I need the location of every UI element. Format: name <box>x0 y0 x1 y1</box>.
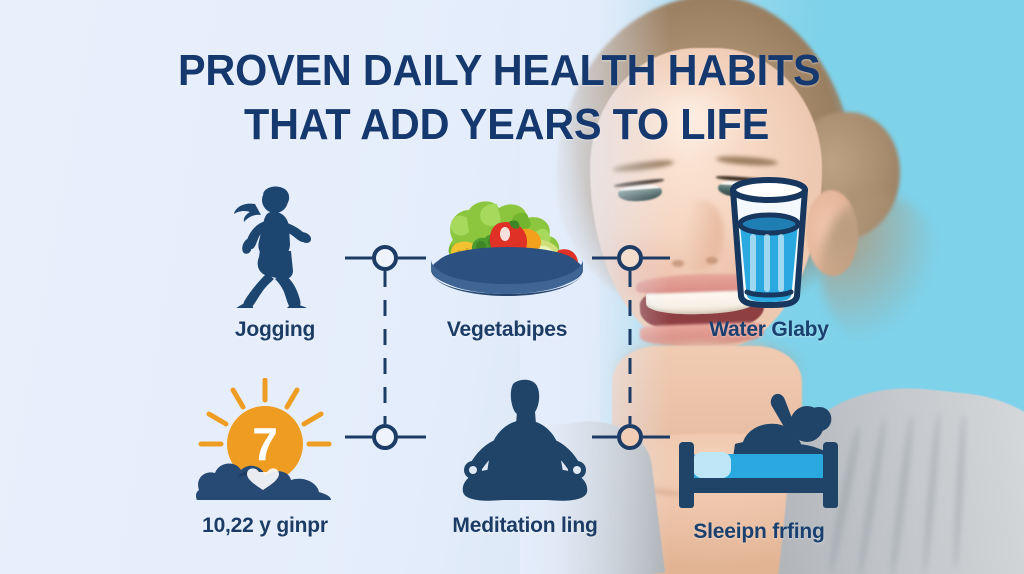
icon-container <box>412 176 602 308</box>
habit-item-sunrise[interactable]: 7 10,22 y ginpr <box>170 372 360 538</box>
sunrise-badge-number: 7 <box>252 418 278 470</box>
icon-container <box>180 176 370 308</box>
salad-bowl-icon <box>423 178 591 308</box>
habit-item-water[interactable]: Water Glaby <box>674 176 864 342</box>
sunrise-icon: 7 <box>193 378 337 504</box>
meditation-lotus-icon <box>457 378 593 504</box>
habit-item-sleep[interactable]: Sleeipn frfing <box>664 378 854 544</box>
health-infographic-poster: PROVEN DAILY HEALTH HABITS THAT ADD YEAR… <box>0 0 1024 574</box>
title-line-1: PROVEN DAILY HEALTH HABITS <box>178 44 836 98</box>
icon-container <box>430 372 620 504</box>
water-glass-icon <box>717 176 821 308</box>
sleeping-person-bed-icon <box>673 392 845 510</box>
poster-title: PROVEN DAILY HEALTH HABITS THAT ADD YEAR… <box>178 44 878 152</box>
title-line-2: THAT ADD YEARS TO LIFE <box>244 98 840 152</box>
habit-label: Jogging <box>180 318 370 342</box>
habit-label: Water Glaby <box>674 318 864 342</box>
habit-label: 10,22 y ginpr <box>170 514 360 538</box>
habit-item-jogging[interactable]: Jogging <box>180 176 370 342</box>
habit-item-meditation[interactable]: Meditation ling <box>430 372 620 538</box>
habit-label: Meditation ling <box>430 514 620 538</box>
habit-label: Sleeipn frfing <box>664 520 854 544</box>
icon-container: 7 <box>170 372 360 504</box>
icon-container <box>664 378 854 510</box>
habit-item-vegetables[interactable]: Vegetabipes <box>412 176 602 342</box>
running-woman-icon <box>223 178 327 308</box>
icon-container <box>674 176 864 308</box>
habit-label: Vegetabipes <box>412 318 602 342</box>
